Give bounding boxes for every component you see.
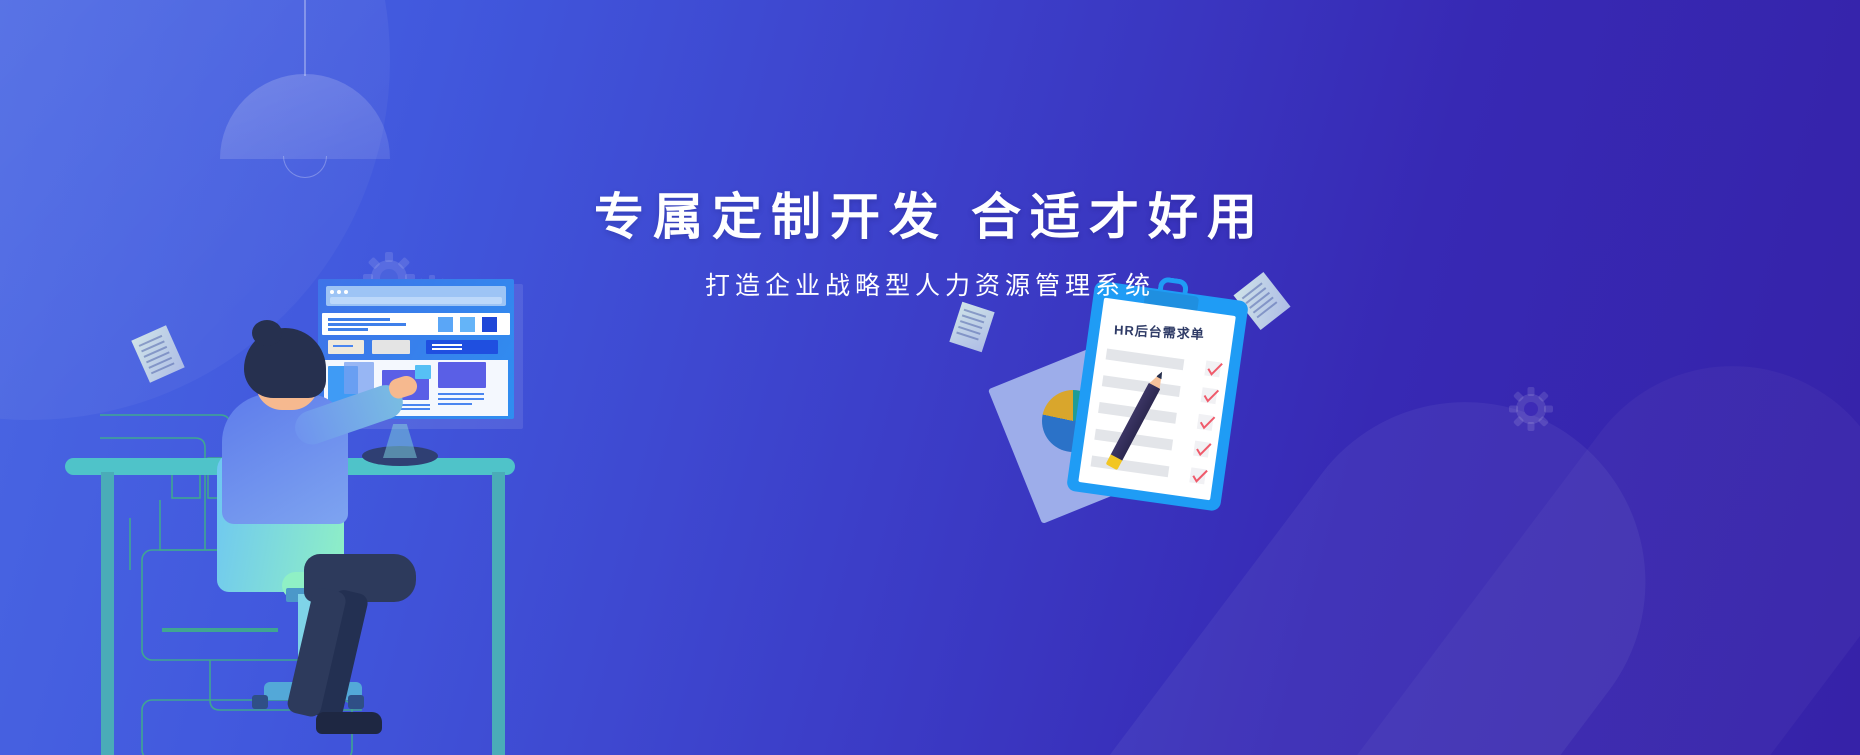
- lamp-cord: [304, 0, 306, 76]
- checklist-row: [1091, 455, 1170, 477]
- dashboard-chip-3: [426, 340, 498, 354]
- clipboard-illustration: HR后台需求单: [1010, 280, 1310, 540]
- gear-right-icon: [1509, 387, 1553, 431]
- dashboard-tile-3: [482, 317, 497, 332]
- note-sheet: [949, 302, 994, 352]
- pencil-body: [1110, 383, 1160, 462]
- hero-text-block: 专属定制开发 合适才好用 打造企业战略型人力资源管理系统: [0, 186, 1860, 302]
- lamp-bulb: [283, 156, 327, 178]
- chair-caster-left: [252, 695, 268, 709]
- person-hair-bun: [252, 320, 282, 346]
- clipboard-title: HR后台需求单: [1114, 319, 1206, 343]
- lamp-dome: [220, 74, 390, 159]
- page-subtitle: 打造企业战略型人力资源管理系统: [0, 266, 1860, 302]
- page-title: 专属定制开发 合适才好用: [0, 186, 1860, 248]
- person-shoe: [316, 712, 382, 734]
- checkbox-checked[interactable]: [1189, 467, 1206, 484]
- clipboard-sheet: HR后台需求单: [1078, 298, 1236, 501]
- floating-note-mid: [949, 302, 994, 352]
- dashboard-tile-1: [438, 317, 453, 332]
- checkbox-checked[interactable]: [1193, 441, 1210, 458]
- checklist-row: [1102, 375, 1181, 397]
- checkbox-checked[interactable]: [1204, 360, 1221, 377]
- checklist-row: [1106, 349, 1185, 371]
- hero-banner: HR后台需求单: [0, 0, 1860, 755]
- dashboard-card-5: [438, 362, 486, 388]
- chair-caster-right: [348, 695, 364, 709]
- seated-person: [186, 320, 416, 755]
- hanging-lamp-icon: [220, 0, 390, 180]
- desk-leg-left: [101, 472, 114, 755]
- checkbox-checked[interactable]: [1197, 414, 1214, 431]
- desk-leg-right: [492, 472, 505, 755]
- dashboard-tile-2: [460, 317, 475, 332]
- hr-requirements-clipboard: HR后台需求单: [1066, 280, 1249, 512]
- checkbox-checked[interactable]: [1201, 387, 1218, 404]
- dashboard-card-4: [415, 365, 431, 379]
